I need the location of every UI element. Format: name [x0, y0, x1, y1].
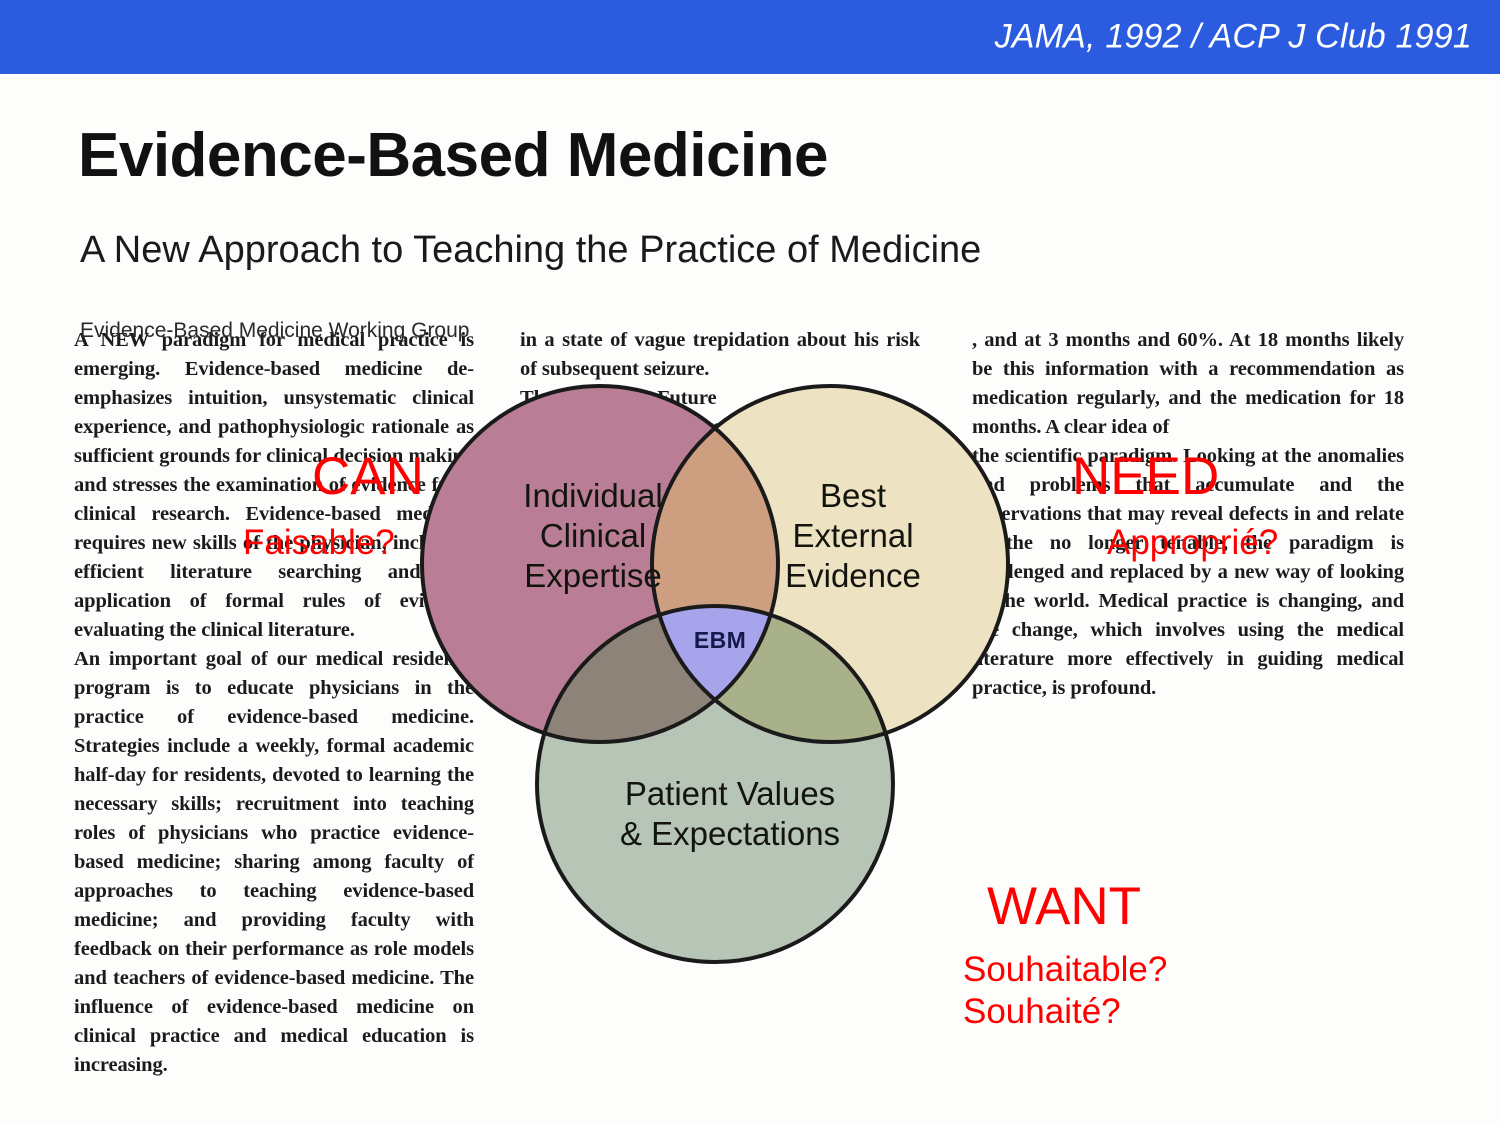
article-column-right: , and at 3 months and 60%. At 18 months … [972, 326, 1404, 703]
article-column-left: A NEW paradigm for medical practice is e… [74, 326, 474, 1080]
annotation-want-subtitle-1: Souhaitable? [963, 949, 1167, 991]
annotation-need-headline: NEED [1072, 449, 1219, 505]
header-banner: JAMA, 1992 / ACP J Club 1991 [0, 0, 1500, 74]
article-title: Evidence-Based Medicine [78, 120, 828, 191]
annotation-want-headline: WANT [987, 879, 1141, 935]
annotation-can-subtitle: Faisable? [243, 522, 395, 564]
scanned-article-image: A NEW paradigm for medical practice is e… [0, 74, 1500, 1125]
annotation-want-subtitle-2: Souhaité? [963, 991, 1121, 1033]
article-working-group: Evidence-Based Medicine Working Group [80, 319, 469, 343]
header-citation: JAMA, 1992 / ACP J Club 1991 [995, 18, 1472, 57]
ebm-venn-diagram: Individual Clinical Expertise Best Exter… [415, 366, 1015, 986]
annotation-can-headline: CAN [312, 449, 424, 505]
annotation-need-subtitle: Approprié? [1107, 522, 1278, 564]
article-subtitle: A New Approach to Teaching the Practice … [80, 229, 981, 272]
venn-svg [415, 366, 1015, 986]
